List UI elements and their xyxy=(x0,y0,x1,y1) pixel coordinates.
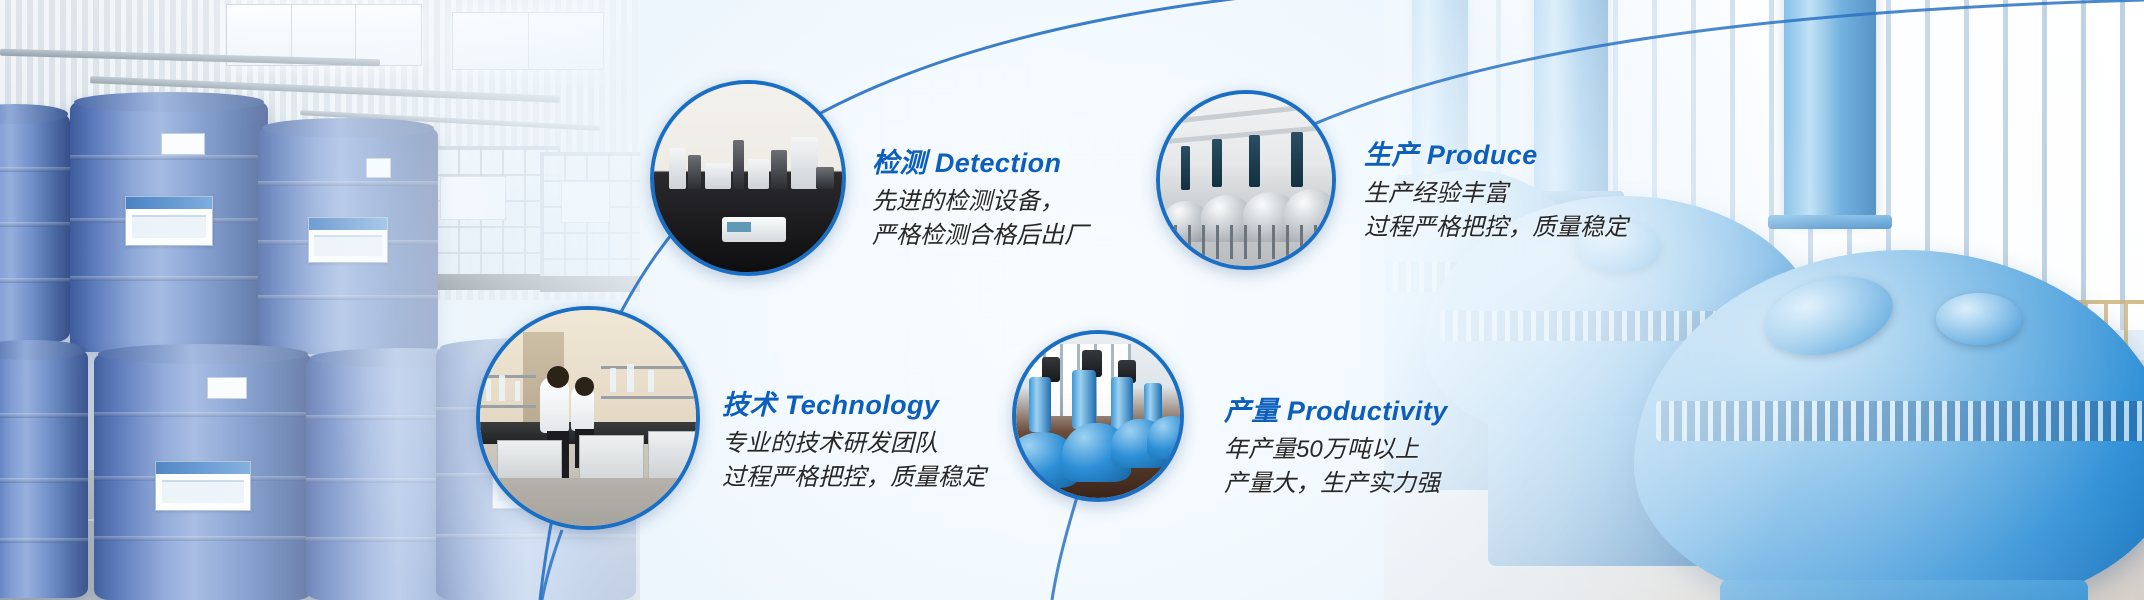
feature-title-cn: 产量 xyxy=(1224,396,1279,426)
white-haze-overlay xyxy=(0,0,2144,600)
feature-text-detection: 检测Detection 先进的检测设备， 严格检测合格后出厂 xyxy=(872,148,1088,253)
company-capability-banner: 检测Detection 先进的检测设备， 严格检测合格后出厂 生产Produce… xyxy=(0,0,2144,600)
feature-title-technology: 技术Technology xyxy=(722,390,986,421)
photo-productivity[interactable] xyxy=(1012,330,1184,502)
feature-line: 生产经验丰富 xyxy=(1364,177,1628,211)
feature-text-technology: 技术Technology 专业的技术研发团队 过程严格把控，质量稳定 xyxy=(722,390,986,495)
feature-line: 专业的技术研发团队 xyxy=(722,427,986,461)
feature-title-cn: 生产 xyxy=(1364,140,1419,170)
photo-technology[interactable] xyxy=(476,306,700,530)
feature-line: 严格检测合格后出厂 xyxy=(872,219,1088,253)
feature-lines-produce: 生产经验丰富 过程严格把控，质量稳定 xyxy=(1364,177,1628,245)
feature-title-productivity: 产量Productivity xyxy=(1224,396,1448,427)
productivity-reactors-photo xyxy=(1016,334,1180,498)
feature-title-cn: 技术 xyxy=(722,390,777,420)
feature-title-en: Detection xyxy=(927,148,1062,178)
feature-lines-technology: 专业的技术研发团队 过程严格把控，质量稳定 xyxy=(722,427,986,495)
photo-produce[interactable] xyxy=(1156,90,1336,270)
detection-lab-photo xyxy=(654,84,842,272)
feature-line: 先进的检测设备， xyxy=(872,185,1088,219)
feature-line: 年产量50万吨以上 xyxy=(1224,433,1448,467)
feature-lines-productivity: 年产量50万吨以上 产量大，生产实力强 xyxy=(1224,433,1448,501)
technology-lab-photo xyxy=(480,310,696,526)
produce-tanks-photo xyxy=(1160,94,1332,266)
feature-text-productivity: 产量Productivity 年产量50万吨以上 产量大，生产实力强 xyxy=(1224,396,1448,501)
photo-detection[interactable] xyxy=(650,80,846,276)
feature-title-detection: 检测Detection xyxy=(872,148,1088,179)
feature-text-produce: 生产Produce 生产经验丰富 过程严格把控，质量稳定 xyxy=(1364,140,1628,245)
feature-title-en: Produce xyxy=(1419,140,1538,170)
feature-title-cn: 检测 xyxy=(872,148,927,178)
feature-line: 过程严格把控，质量稳定 xyxy=(1364,211,1628,245)
feature-line: 产量大，生产实力强 xyxy=(1224,467,1448,501)
feature-title-en: Technology xyxy=(777,390,940,420)
feature-line: 过程严格把控，质量稳定 xyxy=(722,461,986,495)
feature-lines-detection: 先进的检测设备， 严格检测合格后出厂 xyxy=(872,185,1088,253)
feature-title-produce: 生产Produce xyxy=(1364,140,1628,171)
feature-title-en: Productivity xyxy=(1279,396,1448,426)
